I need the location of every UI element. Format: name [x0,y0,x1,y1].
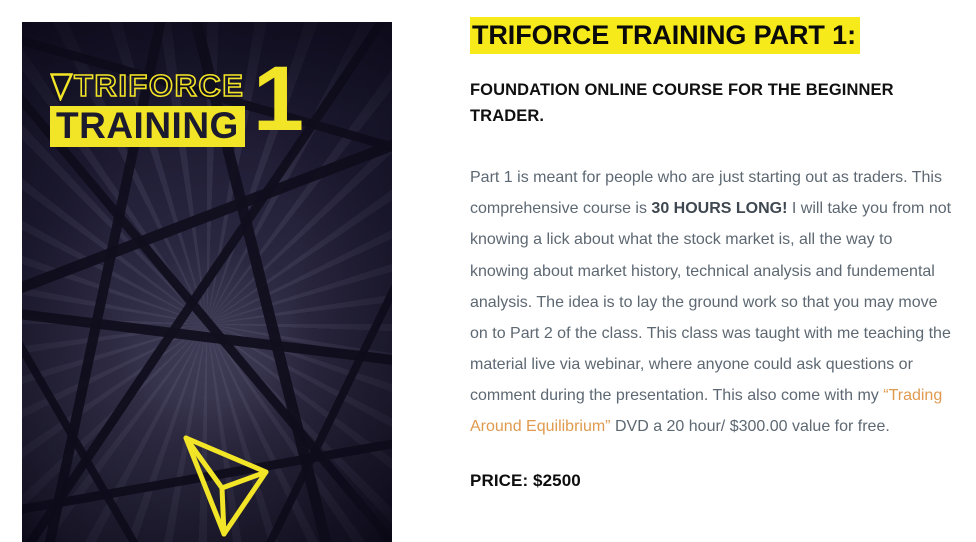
cover-triforce-text: TRIFORCE [74,70,244,101]
course-cover-image[interactable]: TRIFORCE TRAINING 1 [22,22,392,542]
description-segment-2: I will take you from not knowing a lick … [470,200,951,404]
course-subheading: FOUNDATION ONLINE COURSE FOR THE BEGINNE… [470,77,922,130]
page-title-text: TRIFORCE TRAINING PART 1: [470,17,860,54]
course-price: PRICE: $2500 [470,471,956,491]
product-detail-page: TRIFORCE TRAINING 1 TRIFORCE TRAININ [0,0,976,512]
cover-part-number: 1 [253,64,302,136]
cover-training-text: TRAINING [50,106,245,147]
triforce-t-glyph-icon [50,72,73,101]
course-copy-column: TRIFORCE TRAINING PART 1: FOUNDATION ONL… [470,0,956,491]
description-segment-3: DVD a 20 hour/ $300.00 value for free. [611,418,890,435]
course-description: Part 1 is meant for people who are just … [470,162,954,443]
triforce-tetrahedron-logo-icon [170,426,280,538]
cover-triforce-wordmark: TRIFORCE [50,70,245,101]
page-title: TRIFORCE TRAINING PART 1: [470,18,956,53]
description-duration-emphasis: 30 HOURS LONG! [651,200,787,217]
cover-brand-lockup: TRIFORCE TRAINING 1 [50,70,370,147]
cover-wordmark: TRIFORCE TRAINING [50,70,245,147]
